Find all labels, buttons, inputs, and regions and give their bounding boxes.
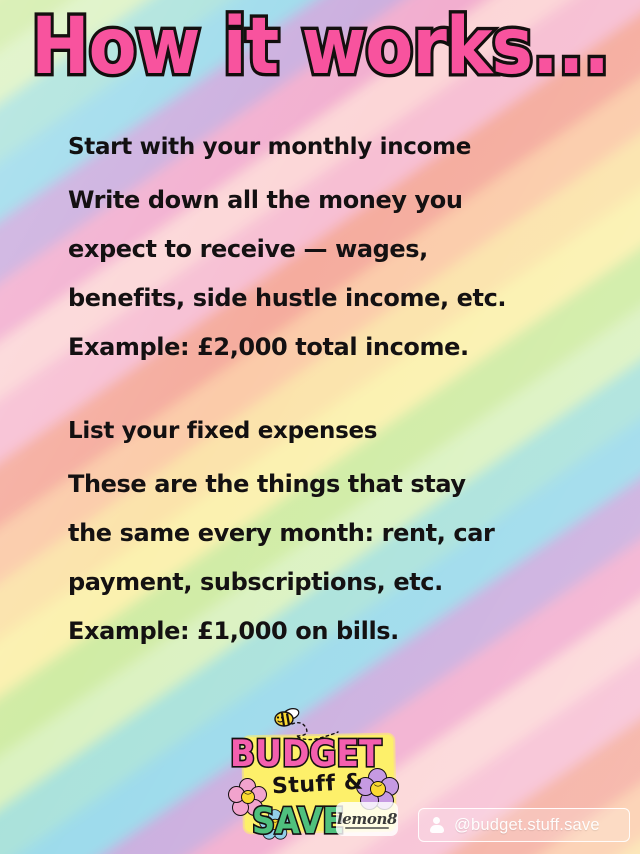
title-container: How it works... [0, 4, 640, 88]
lemon8-watermark: lemon8 [336, 802, 398, 836]
section-expenses-line-3: payment, subscriptions, etc. [68, 558, 588, 607]
section-income-line-2: expect to receive — wages, [68, 225, 588, 274]
section-expenses-line-4: Example: £1,000 on bills. [68, 607, 588, 656]
logo-word-stuff: Stuff & [271, 770, 364, 800]
handle-badge[interactable]: @budget.stuff.save [418, 808, 630, 842]
section-expenses-heading: List your fixed expenses [68, 416, 588, 446]
section-fixed-expenses: List your fixed expenses These are the t… [68, 416, 588, 656]
logo-word-save: SAVE [252, 800, 344, 842]
poster-canvas: How it works... Start with your monthly … [0, 0, 640, 854]
section-expenses-line-2: the same every month: rent, car [68, 509, 588, 558]
page-title: How it works... [31, 0, 609, 93]
content-body: Start with your monthly income Write dow… [68, 132, 588, 656]
section-income-line-3: benefits, side hustle income, etc. [68, 274, 588, 323]
person-icon [429, 817, 444, 833]
logo-word-budget: BUDGET [230, 732, 381, 775]
section-expenses-line-1: These are the things that stay [68, 460, 588, 509]
handle-text: @budget.stuff.save [454, 816, 600, 835]
section-income-line-4: Example: £2,000 total income. [68, 323, 588, 372]
section-income-line-1: Write down all the money you [68, 176, 588, 225]
section-income-heading: Start with your monthly income [68, 132, 588, 162]
section-income: Start with your monthly income Write dow… [68, 132, 588, 372]
